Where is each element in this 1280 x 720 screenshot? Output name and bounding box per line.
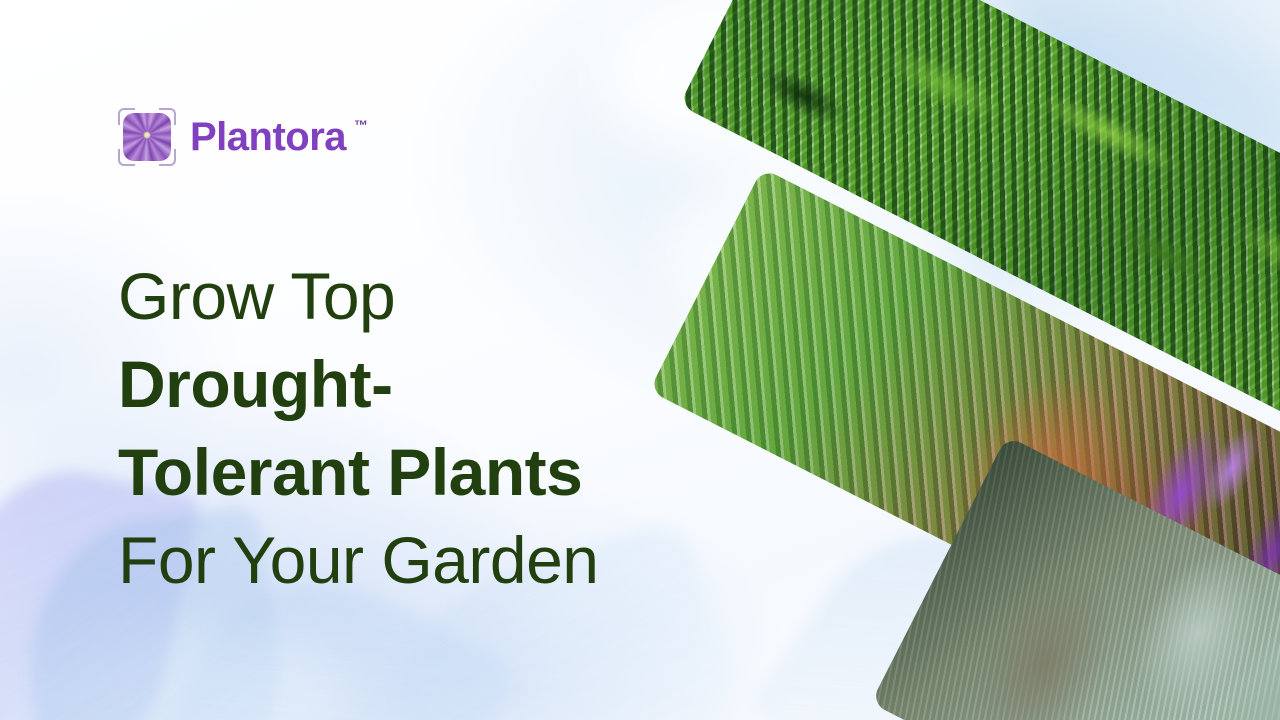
headline-line-3: Tolerant Plants: [118, 428, 718, 516]
scan-bracket-top-left: [118, 108, 135, 125]
banner-canvas: Plantora ™ Grow Top Drought- Tolerant Pl…: [0, 0, 1280, 720]
scan-bracket-top-right: [159, 108, 176, 125]
headline-line-4: For Your Garden: [118, 516, 718, 604]
brand-wordmark: Plantora ™: [190, 117, 368, 157]
brand-logo[interactable]: Plantora ™: [118, 108, 368, 166]
page-title: Grow Top Drought- Tolerant Plants For Yo…: [118, 252, 718, 604]
scan-bracket-bottom-left: [118, 149, 135, 166]
scan-bracket-bottom-right: [159, 149, 176, 166]
headline-line-1: Grow Top: [118, 252, 718, 340]
lotus-flower-scan-icon: [118, 108, 176, 166]
trademark-symbol: ™: [354, 118, 368, 132]
headline-line-2: Drought-: [118, 340, 718, 428]
